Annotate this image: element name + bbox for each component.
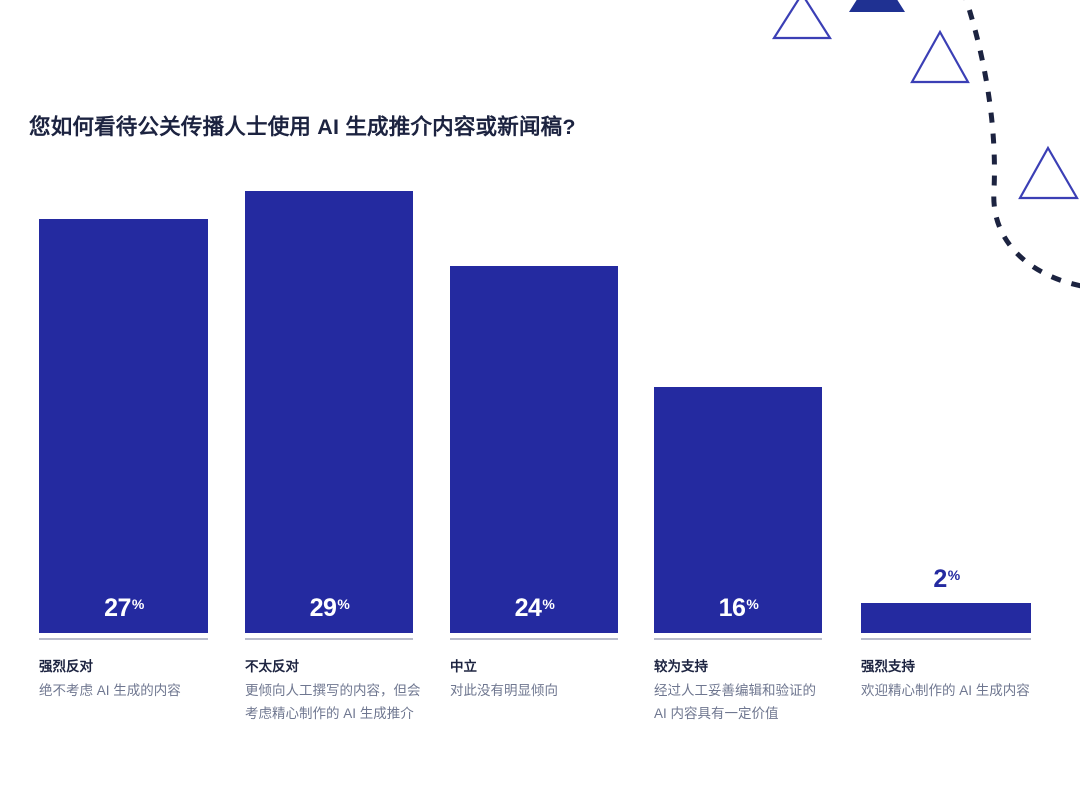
bar-rect[interactable]: 29% bbox=[245, 191, 413, 633]
percent-symbol: % bbox=[132, 597, 144, 611]
bar-column: 16% bbox=[654, 150, 822, 650]
bar-separator-line bbox=[861, 638, 1031, 640]
triangle-filled-icon bbox=[849, 0, 905, 12]
bar-rect[interactable]: 24% bbox=[450, 266, 618, 633]
percent-symbol: % bbox=[948, 568, 960, 582]
bar-value-label: 27% bbox=[104, 596, 143, 633]
bar-wrapper: 27% bbox=[39, 219, 208, 633]
bar-value-number: 24 bbox=[515, 596, 542, 621]
caption-description: 经过人工妥善编辑和验证的 AI 内容具有一定价值 bbox=[654, 679, 826, 725]
bar-separator-line bbox=[450, 638, 618, 640]
caption-heading: 中立 bbox=[450, 655, 630, 678]
chart-page: 您如何看待公关传播人士使用 AI 生成推介内容或新闻稿? 27% 29% bbox=[0, 0, 1080, 792]
bar-rect[interactable]: 2% bbox=[861, 603, 1031, 633]
bar-value-number: 27 bbox=[104, 596, 131, 621]
bar-caption: 中立 对此没有明显倾向 bbox=[450, 655, 630, 702]
bar-caption: 强烈支持 欢迎精心制作的 AI 生成内容 bbox=[861, 655, 1043, 702]
bar-wrapper: 24% bbox=[450, 266, 618, 633]
bar-caption: 较为支持 经过人工妥善编辑和验证的 AI 内容具有一定价值 bbox=[654, 655, 826, 725]
caption-heading: 较为支持 bbox=[654, 655, 826, 678]
triangle-outline-icon bbox=[912, 32, 968, 82]
bar-wrapper: 16% bbox=[654, 387, 822, 633]
caption-description: 对此没有明显倾向 bbox=[450, 679, 630, 702]
chart-title: 您如何看待公关传播人士使用 AI 生成推介内容或新闻稿? bbox=[29, 110, 576, 141]
bar-wrapper: 2% bbox=[861, 603, 1031, 633]
bar-column: 27% bbox=[39, 150, 208, 650]
bar-column: 24% bbox=[450, 150, 618, 650]
bar-column: 29% bbox=[245, 150, 413, 650]
triangle-outline-icon bbox=[774, 0, 830, 38]
caption-description: 欢迎精心制作的 AI 生成内容 bbox=[861, 679, 1043, 702]
bar-value-label: 16% bbox=[719, 596, 758, 633]
bar-value-label: 29% bbox=[310, 596, 349, 633]
percent-symbol: % bbox=[337, 597, 349, 611]
caption-heading: 强烈支持 bbox=[861, 655, 1043, 678]
bar-rect[interactable]: 16% bbox=[654, 387, 822, 633]
bar-column: 2% bbox=[861, 150, 1031, 650]
bar-value-number: 16 bbox=[719, 596, 746, 621]
percent-symbol: % bbox=[542, 597, 554, 611]
bar-caption: 不太反对 更倾向人工撰写的内容，但会考虑精心制作的 AI 生成推介 bbox=[245, 655, 425, 725]
bar-value-label: 2% bbox=[861, 567, 1031, 592]
bar-chart-plot-area: 27% 29% 24% bbox=[0, 150, 1080, 650]
bar-value-number: 2 bbox=[933, 567, 946, 592]
bar-rect[interactable]: 27% bbox=[39, 219, 208, 633]
percent-symbol: % bbox=[746, 597, 758, 611]
bar-caption: 强烈反对 绝不考虑 AI 生成的内容 bbox=[39, 655, 217, 702]
caption-description: 绝不考虑 AI 生成的内容 bbox=[39, 679, 217, 702]
caption-heading: 不太反对 bbox=[245, 655, 425, 678]
bar-separator-line bbox=[245, 638, 413, 640]
bar-wrapper: 29% bbox=[245, 191, 413, 633]
bar-value-number: 29 bbox=[310, 596, 337, 621]
caption-heading: 强烈反对 bbox=[39, 655, 217, 678]
bar-separator-line bbox=[654, 638, 822, 640]
bar-separator-line bbox=[39, 638, 208, 640]
caption-description: 更倾向人工撰写的内容，但会考虑精心制作的 AI 生成推介 bbox=[245, 679, 425, 725]
bar-value-label: 24% bbox=[515, 596, 554, 633]
